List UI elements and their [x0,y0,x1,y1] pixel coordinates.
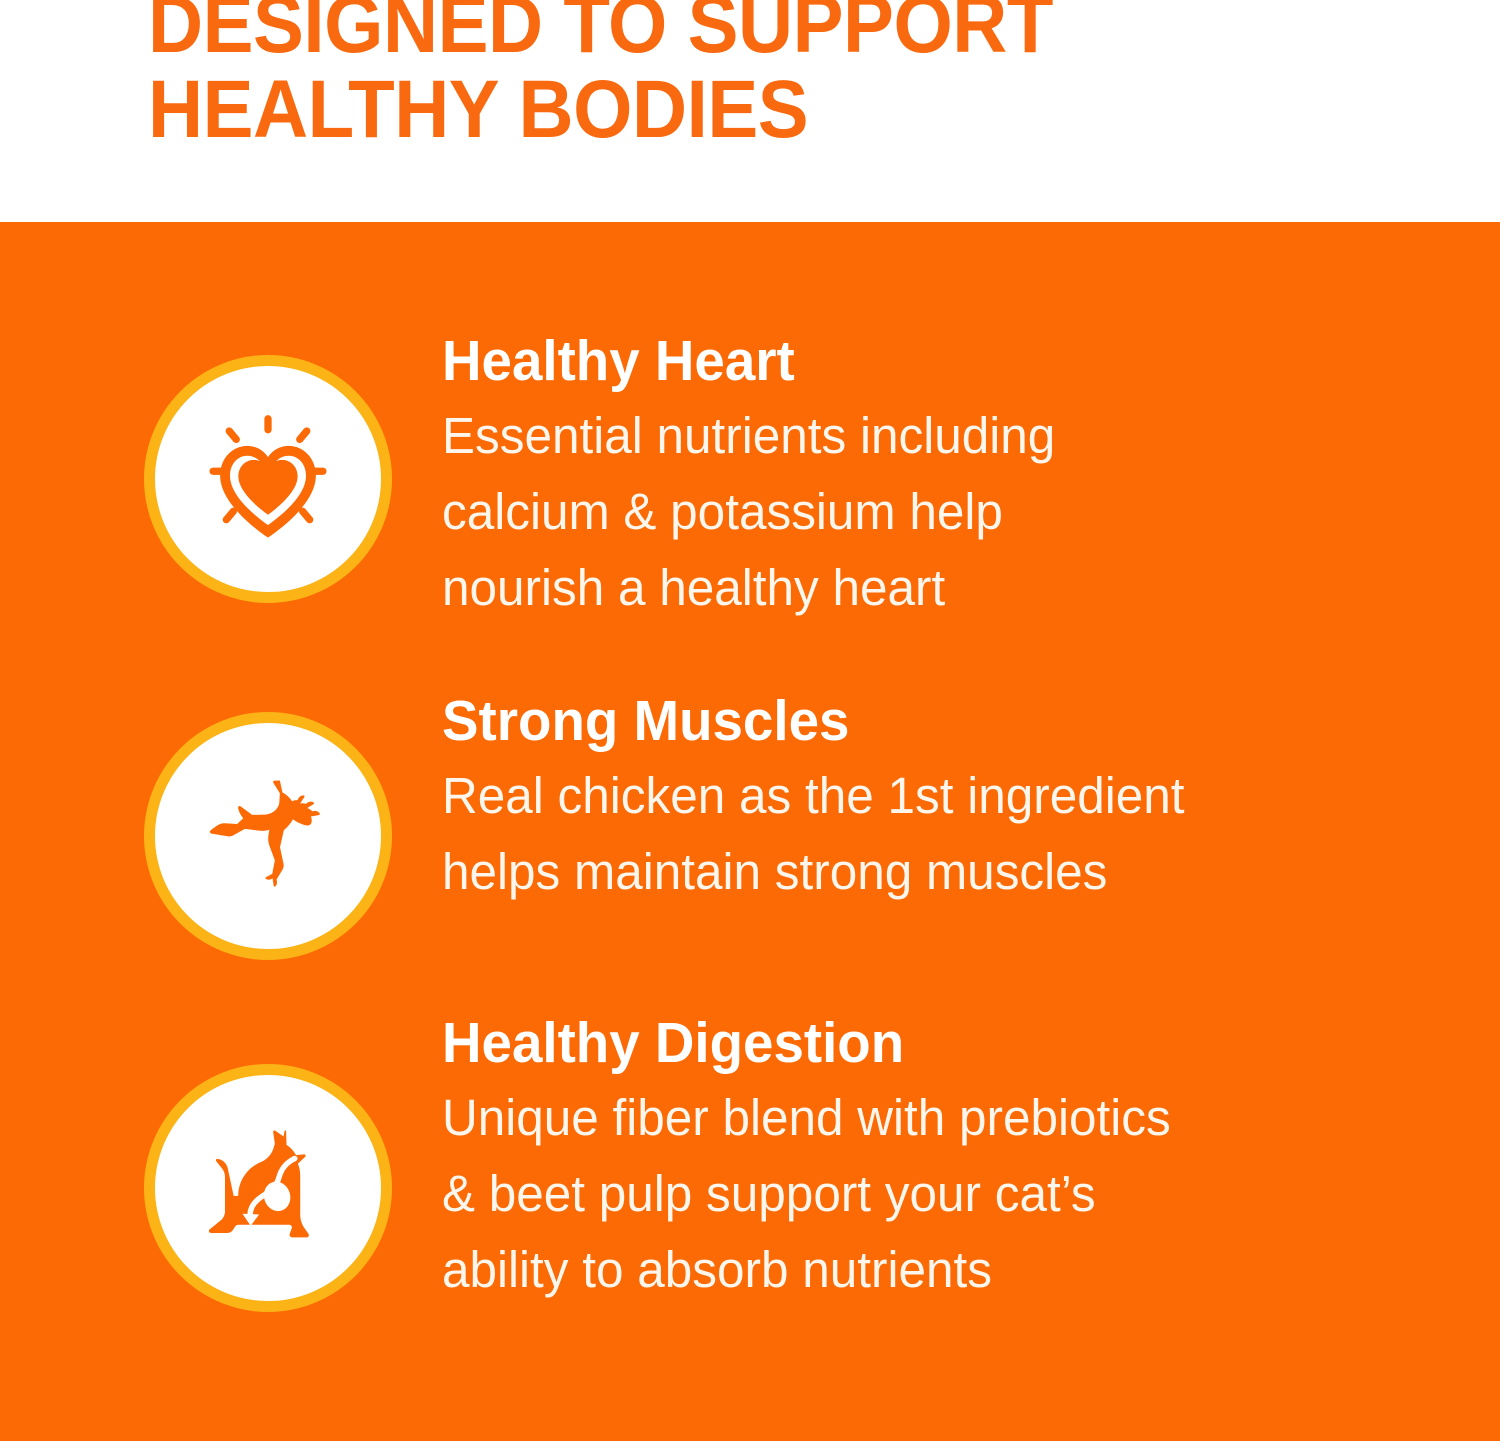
page-title: DESIGNED TO SUPPORT HEALTHY BODIES [148,0,1264,152]
feature-row-strong-muscles: Strong Muscles Real chicken as the 1st i… [0,690,1500,960]
icon-circle [144,355,392,603]
feature-heading: Healthy Digestion [442,1012,1419,1074]
header-band: DESIGNED TO SUPPORT HEALTHY BODIES [0,0,1500,222]
infographic-page: DESIGNED TO SUPPORT HEALTHY BODIES [0,0,1500,1441]
icon-badge-healthy-heart [144,355,392,603]
feature-heading: Healthy Heart [442,330,1419,392]
feature-body: Real chicken as the 1st ingredient helps… [442,758,1429,910]
radiant-heart-icon [192,403,344,555]
feature-text-healthy-heart: Healthy Heart Essential nutrients includ… [442,330,1500,626]
feature-body: Essential nutrients including calcium & … [442,398,1429,626]
benefits-panel: Healthy Heart Essential nutrients includ… [0,222,1500,1441]
icon-badge-healthy-digestion [144,1064,392,1312]
feature-row-healthy-digestion: Healthy Digestion Unique fiber blend wit… [0,1012,1500,1312]
feature-text-strong-muscles: Strong Muscles Real chicken as the 1st i… [442,690,1500,910]
feature-row-healthy-heart: Healthy Heart Essential nutrients includ… [0,330,1500,626]
leaping-cat-icon [192,760,344,912]
icon-badge-strong-muscles [144,712,392,960]
feature-heading: Strong Muscles [442,690,1419,752]
icon-circle [144,1064,392,1312]
icon-circle [144,712,392,960]
feature-body: Unique fiber blend with prebiotics & bee… [442,1080,1429,1308]
feature-text-healthy-digestion: Healthy Digestion Unique fiber blend wit… [442,1012,1500,1308]
sitting-cat-digestion-icon [192,1112,344,1264]
